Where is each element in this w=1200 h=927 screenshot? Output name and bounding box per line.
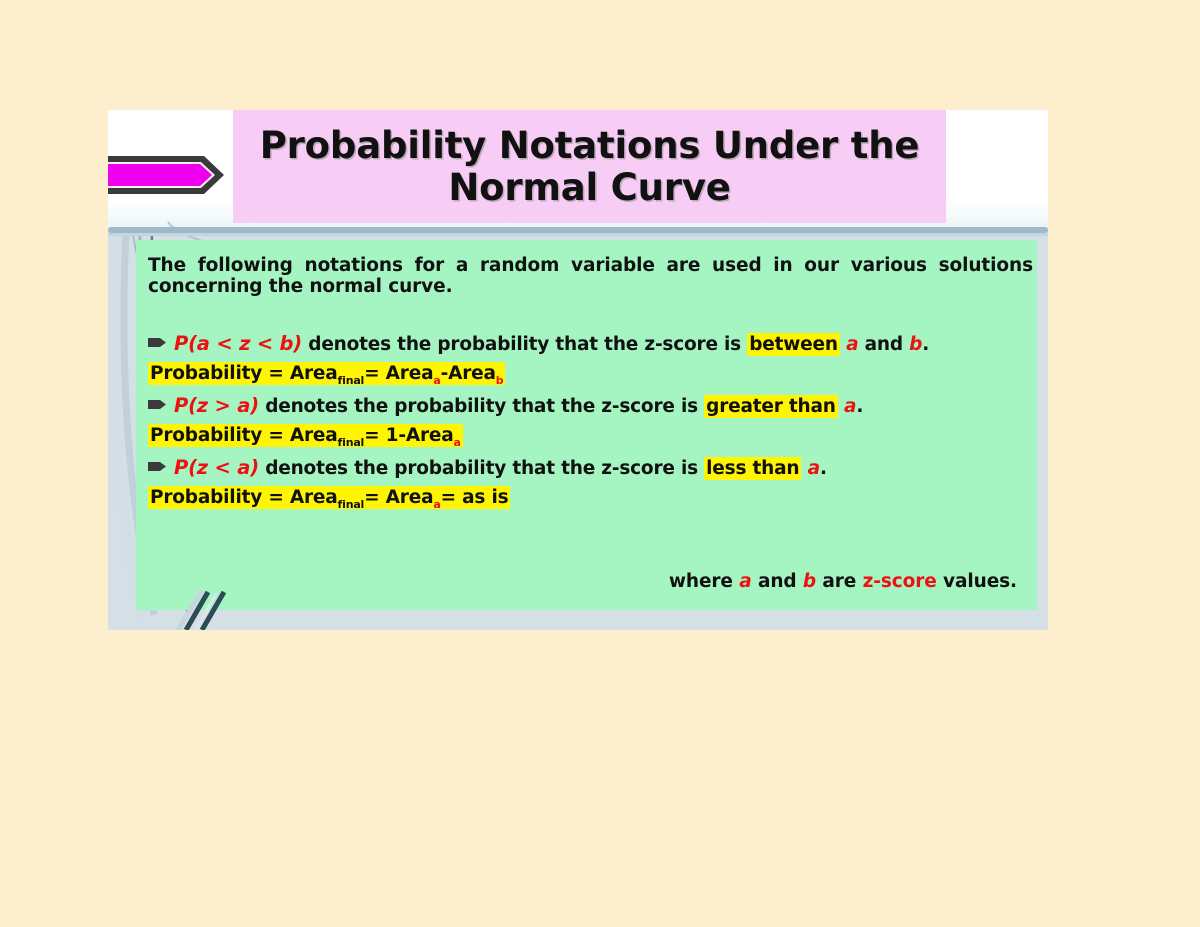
formula-mid: = Area (364, 487, 433, 508)
formula-sub-final: final (338, 498, 365, 511)
notation-expression: P(z < a) (174, 456, 259, 479)
notation-item: P(z < a) denotes the probability that th… (148, 458, 1029, 479)
slide-title-line1: Probability Notations Under the (260, 124, 920, 167)
formula-item: Probability = Areafinal= 1-Areaa (148, 427, 1029, 446)
footnote-part3: are (816, 571, 863, 592)
bullet-arrow-icon (148, 396, 167, 407)
notation-var-b: b (909, 334, 922, 355)
decorative-diagonal-group (158, 580, 298, 630)
notation-terminator: . (922, 334, 929, 355)
formula-sub-final: final (338, 436, 365, 449)
presentation-slide: Probability Notations Under the Normal C… (108, 110, 1048, 630)
bullet-arrow-icon (148, 458, 167, 469)
title-divider-rule-secondary (108, 233, 1048, 236)
notation-text: denotes the probability that the z-score… (302, 334, 747, 355)
notation-item: P(z > a) denotes the probability that th… (148, 396, 1029, 417)
notation-text: denotes the probability that the z-score… (259, 396, 704, 417)
footnote-var-b: b (803, 571, 816, 592)
content-panel: The following notations for a random var… (136, 240, 1037, 610)
notation-conjunction: and (858, 334, 909, 355)
magenta-arrow-icon (108, 154, 226, 196)
notation-list: P(a < z < b) denotes the probability tha… (148, 334, 1029, 508)
formula-item: Probability = Areafinal= Areaa= as is (148, 489, 1029, 508)
intro-paragraph: The following notations for a random var… (148, 256, 1033, 298)
notation-terminator: . (820, 458, 827, 479)
footnote-var-a: a (739, 571, 751, 592)
notation-expression: P(z > a) (174, 394, 259, 417)
formula-tail: -Area (441, 363, 496, 384)
formula-sub-a: a (433, 498, 440, 511)
formula-sub-a: a (454, 436, 461, 449)
formula-highlight-wrap: Probability = Areafinal= Areaa-Areab (148, 362, 505, 385)
formula-label: Probability = Area (150, 425, 338, 446)
formula-label: Probability = Area (150, 363, 338, 384)
footnote-part4: values. (937, 571, 1017, 592)
formula-sub-final: final (338, 374, 365, 387)
formula-mid: = 1-Area (364, 425, 453, 446)
slide-title: Probability Notations Under the Normal C… (254, 125, 926, 208)
notation-var-a: a (808, 458, 820, 479)
notation-item: P(a < z < b) denotes the probability tha… (148, 334, 1029, 355)
notation-terminator: . (856, 396, 863, 417)
diagonal-lines-icon (158, 580, 298, 630)
formula-sub-b: b (496, 374, 504, 387)
slide-title-banner: Probability Notations Under the Normal C… (233, 110, 946, 223)
notation-highlight: less than (704, 457, 801, 480)
footnote-term: z-score (863, 571, 937, 592)
formula-mid: = Area (364, 363, 433, 384)
formula-highlight-wrap: Probability = Areafinal= Areaa= as is (148, 486, 510, 509)
slide-title-line2: Normal Curve (448, 166, 730, 209)
formula-label: Probability = Area (150, 487, 338, 508)
notation-highlight: between (747, 333, 840, 356)
formula-tail: = as is (441, 487, 509, 508)
footnote: where a and b are z-score values. (669, 571, 1017, 592)
bullet-arrow-icon (148, 334, 167, 345)
notation-text: denotes the probability that the z-score… (259, 458, 704, 479)
notation-highlight: greater than (704, 395, 838, 418)
footnote-part1: where (669, 571, 739, 592)
notation-expression: P(a < z < b) (174, 332, 302, 355)
notation-var-a: a (844, 396, 856, 417)
formula-item: Probability = Areafinal= Areaa-Areab (148, 365, 1029, 384)
notation-var-a: a (846, 334, 858, 355)
formula-sub-a: a (433, 374, 440, 387)
formula-highlight-wrap: Probability = Areafinal= 1-Areaa (148, 424, 463, 447)
footnote-part2: and (752, 571, 803, 592)
